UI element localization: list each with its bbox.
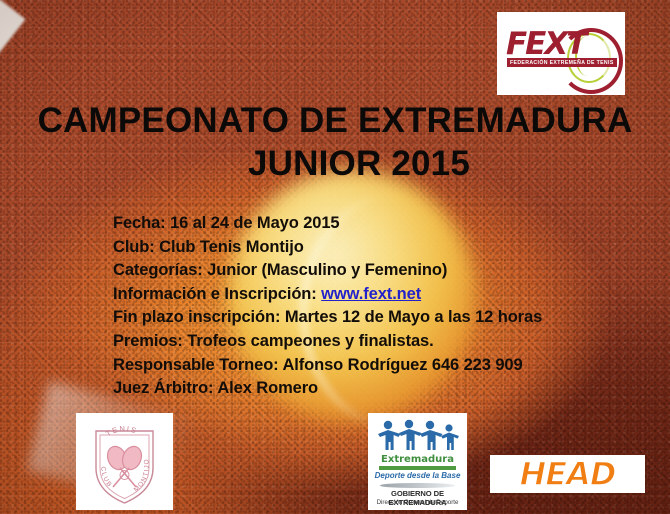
detail-value: Junior (Masculino y Femenino) [207, 261, 447, 279]
detail-row-fin-plazo: Fin plazo inscripción: Martes 12 de Mayo… [113, 306, 583, 330]
detail-label: Categorías: [113, 261, 203, 279]
department-name: Dirección General de Deporte [368, 499, 467, 506]
detail-value: Martes 12 de Mayo a las 12 horas [285, 308, 542, 326]
detail-value: Alfonso Rodríguez 646 223 909 [282, 356, 522, 374]
club-tenis-montijo-crest: TENIS CLUB MONTIJO [76, 413, 173, 510]
head-logo: HEAD [490, 455, 645, 493]
detail-label: Información e Inscripción: [113, 285, 317, 303]
detail-row-categorias: Categorías: Junior (Masculino y Femenino… [113, 259, 583, 283]
detail-value: Trofeos campeones y finalistas. [187, 332, 433, 350]
page-title: CAMPEONATO DE EXTREMADURA JUNIOR 2015 [0, 100, 670, 185]
detail-label: Fin plazo inscripción: [113, 308, 280, 326]
tournament-poster: CAMPEONATO DE EXTREMADURA JUNIOR 2015 Fe… [0, 0, 670, 514]
detail-value: Club Tenis Montijo [159, 238, 304, 256]
head-wordmark: HEAD [490, 455, 645, 493]
detail-value: 16 al 24 de Mayo 2015 [170, 214, 339, 232]
detail-label: Juez Árbitro: [113, 379, 213, 397]
extremadura-slogan: Deporte desde la Base [368, 471, 467, 480]
detail-row-fecha: Fecha: 16 al 24 de Mayo 2015 [113, 212, 583, 236]
detail-row-club: Club: Club Tenis Montijo [113, 236, 583, 260]
gobierno-extremadura-logo: Extremadura Deporte desde la Base GOBIER… [368, 413, 467, 510]
detail-row-premios: Premios: Trofeos campeones y finalistas. [113, 330, 583, 354]
fext-tagline: FEDERACIÓN EXTREMEÑA DE TENIS [507, 58, 617, 67]
fext-wordmark: FEXT [506, 26, 585, 62]
tournament-details: Fecha: 16 al 24 de Mayo 2015 Club: Club … [113, 212, 583, 401]
fext-logo: FEXT FEDERACIÓN EXTREMEÑA DE TENIS [497, 12, 625, 95]
detail-value: Alex Romero [217, 379, 318, 397]
detail-label: Club: [113, 238, 155, 256]
detail-label: Premios: [113, 332, 183, 350]
title-line-2: JUNIOR 2015 [0, 143, 670, 186]
detail-label: Fecha: [113, 214, 166, 232]
crest-top-text: TENIS [104, 424, 139, 438]
detail-row-juez-arbitro: Juez Árbitro: Alex Romero [113, 377, 583, 401]
crest-icon: TENIS CLUB MONTIJO [76, 413, 173, 510]
detail-row-responsable: Responsable Torneo: Alfonso Rodríguez 64… [113, 354, 583, 378]
detail-label: Responsable Torneo: [113, 356, 279, 374]
fext-logo-inner: FEXT FEDERACIÓN EXTREMEÑA DE TENIS [497, 12, 625, 95]
svg-text:TENIS: TENIS [104, 424, 139, 438]
people-figures-icon [376, 419, 459, 452]
title-line-1: CAMPEONATO DE EXTREMADURA [0, 100, 670, 143]
green-divider-bar [379, 466, 456, 470]
detail-row-informacion: Información e Inscripción: www.fext.net [113, 283, 583, 307]
swoosh-graphic [380, 483, 455, 488]
registration-link[interactable]: www.fext.net [321, 285, 421, 303]
extremadura-brand: Extremadura [368, 454, 467, 465]
